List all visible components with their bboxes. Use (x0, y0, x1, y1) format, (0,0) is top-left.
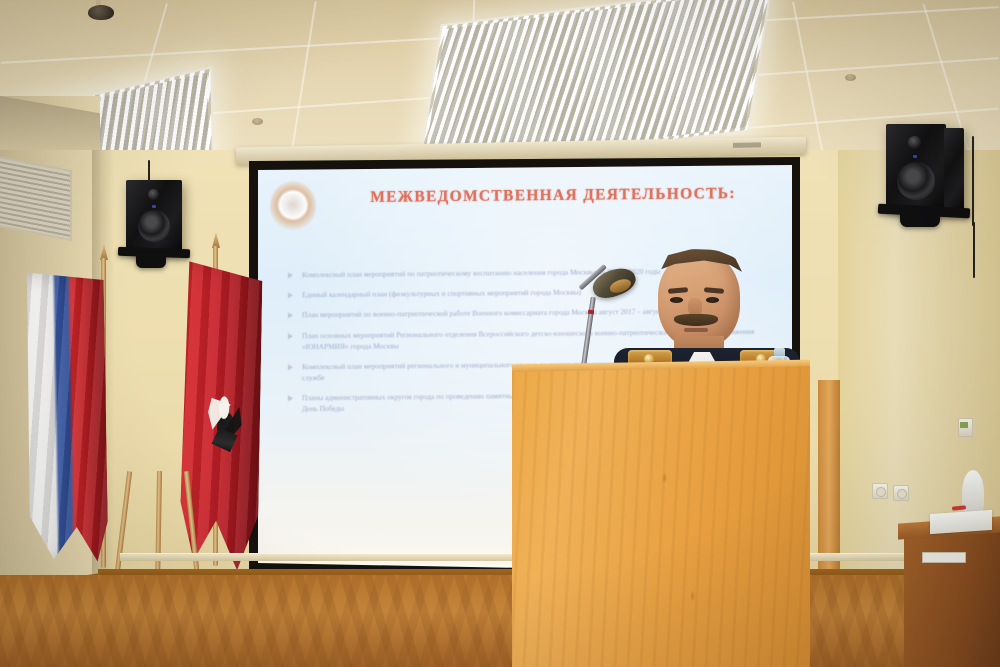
light-switch-indicator (960, 422, 968, 428)
wood-knot (662, 472, 667, 484)
saint-george-dragon-emblem-icon (205, 394, 246, 457)
speaker-tweeter (148, 189, 159, 200)
white-object-on-table (962, 470, 984, 516)
speaker-woofer (897, 162, 935, 200)
microphone-mute-ring (588, 310, 594, 315)
smoke-detector (845, 74, 856, 81)
speaker-tweeter (908, 136, 921, 149)
mustache (674, 314, 718, 326)
speaker-power-led (913, 155, 917, 158)
wall-speaker-left (126, 180, 182, 254)
russian-federation-flag (25, 271, 108, 562)
wall-outlet-right[interactable] (893, 485, 909, 501)
slide-emblem-icon (270, 181, 316, 231)
eye-right (706, 297, 719, 303)
speaker-mount-plate-right (944, 128, 964, 212)
wood-knot (690, 590, 695, 602)
sprinkler-head (252, 118, 263, 125)
table-label-plate (922, 552, 966, 563)
speaker-bracket-left-lower (136, 254, 166, 268)
wall-outlet-left[interactable] (872, 483, 888, 499)
wooden-lectern (512, 366, 810, 667)
speaker-bracket-right-lower (900, 212, 940, 227)
speaker-cable-right (972, 136, 974, 226)
eye-left (670, 297, 683, 303)
parquet-floor (0, 575, 1000, 667)
conference-hall-photo: МЕЖВЕДОМСТВЕННАЯ ДЕЯТЕЛЬНОСТЬ: Комплексн… (0, 0, 1000, 667)
wooden-side-table (904, 528, 1000, 667)
speaker-cable-right-drop (973, 222, 975, 278)
flag-fold-shading (25, 271, 108, 562)
dome-security-camera (88, 5, 114, 20)
housing-brand-badge (733, 142, 761, 148)
speaker-power-led (152, 205, 156, 208)
ventilation-grille (0, 156, 72, 241)
mouth (684, 328, 708, 332)
speaker-woofer (138, 210, 170, 242)
wall-speaker-right (886, 124, 946, 212)
speaker-cable-left (148, 160, 150, 182)
